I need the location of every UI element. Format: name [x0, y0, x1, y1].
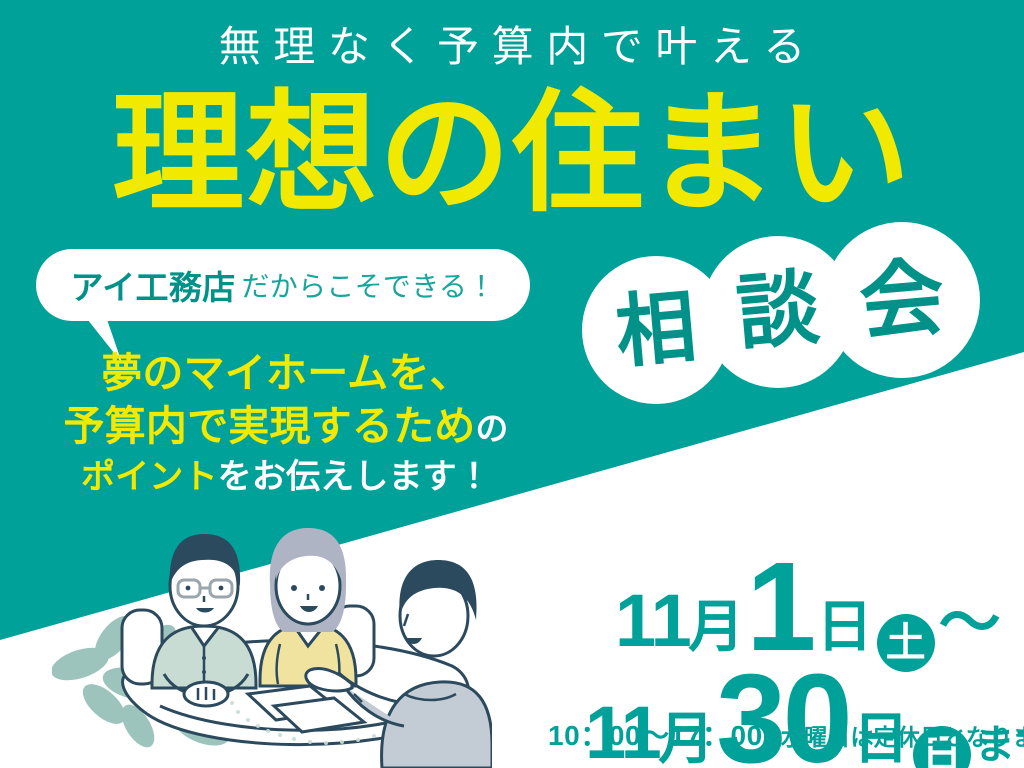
consultation-banner: 無理なく予算内で叶える 理想の住まい アイ工務店 だからこそできる！ 夢のマイホ… [0, 0, 1024, 768]
event-circle-3-char: 会 [856, 254, 947, 345]
start-month: 11 [615, 584, 690, 658]
lead-line-2-highlight: 予算内で実現するため [63, 403, 475, 449]
bubble-suffix-text: だからこそできる！ [242, 265, 496, 305]
kicker-text: 無理なく予算内で叶える [0, 26, 1024, 68]
date-block: 11 月 1 日 土 〜 11 月 30 日 日 まで 10：00〜17：00 … [540, 452, 1024, 752]
lead-line-1: 夢のマイホームを、 [56, 348, 516, 399]
start-day-unit: 日 [817, 599, 873, 655]
bubble-brand-name: アイ工務店 [71, 261, 236, 309]
consultation-illustration [52, 488, 492, 768]
lead-line-2: 予算内で実現するための [56, 401, 516, 452]
lead-line-2-tail: の [476, 410, 509, 447]
person-woman [260, 528, 356, 686]
date-range-connector: 〜 [939, 593, 1001, 655]
event-circle-3: 会 [824, 222, 980, 378]
event-title-circles: 相 談 会 [576, 222, 976, 412]
person-man-with-glasses [152, 534, 256, 706]
speech-bubble: アイ工務店 だからこそできる！ [36, 249, 530, 321]
holiday-note: 水曜日は定休日となります。 [781, 718, 1024, 752]
main-headline: 理想の住まい [0, 88, 1024, 220]
start-month-unit: 月 [688, 599, 744, 655]
lead-copy: 夢のマイホームを、 予算内で実現するための ポイントをお伝えします！ [56, 348, 516, 498]
event-circle-2-char: 談 [734, 268, 823, 357]
event-circle-1-char: 相 [613, 287, 700, 374]
opening-hours: 10：00〜17：00 [548, 714, 763, 754]
hours-row: 10：00〜17：00 水曜日は定休日となります。 [548, 714, 1024, 754]
